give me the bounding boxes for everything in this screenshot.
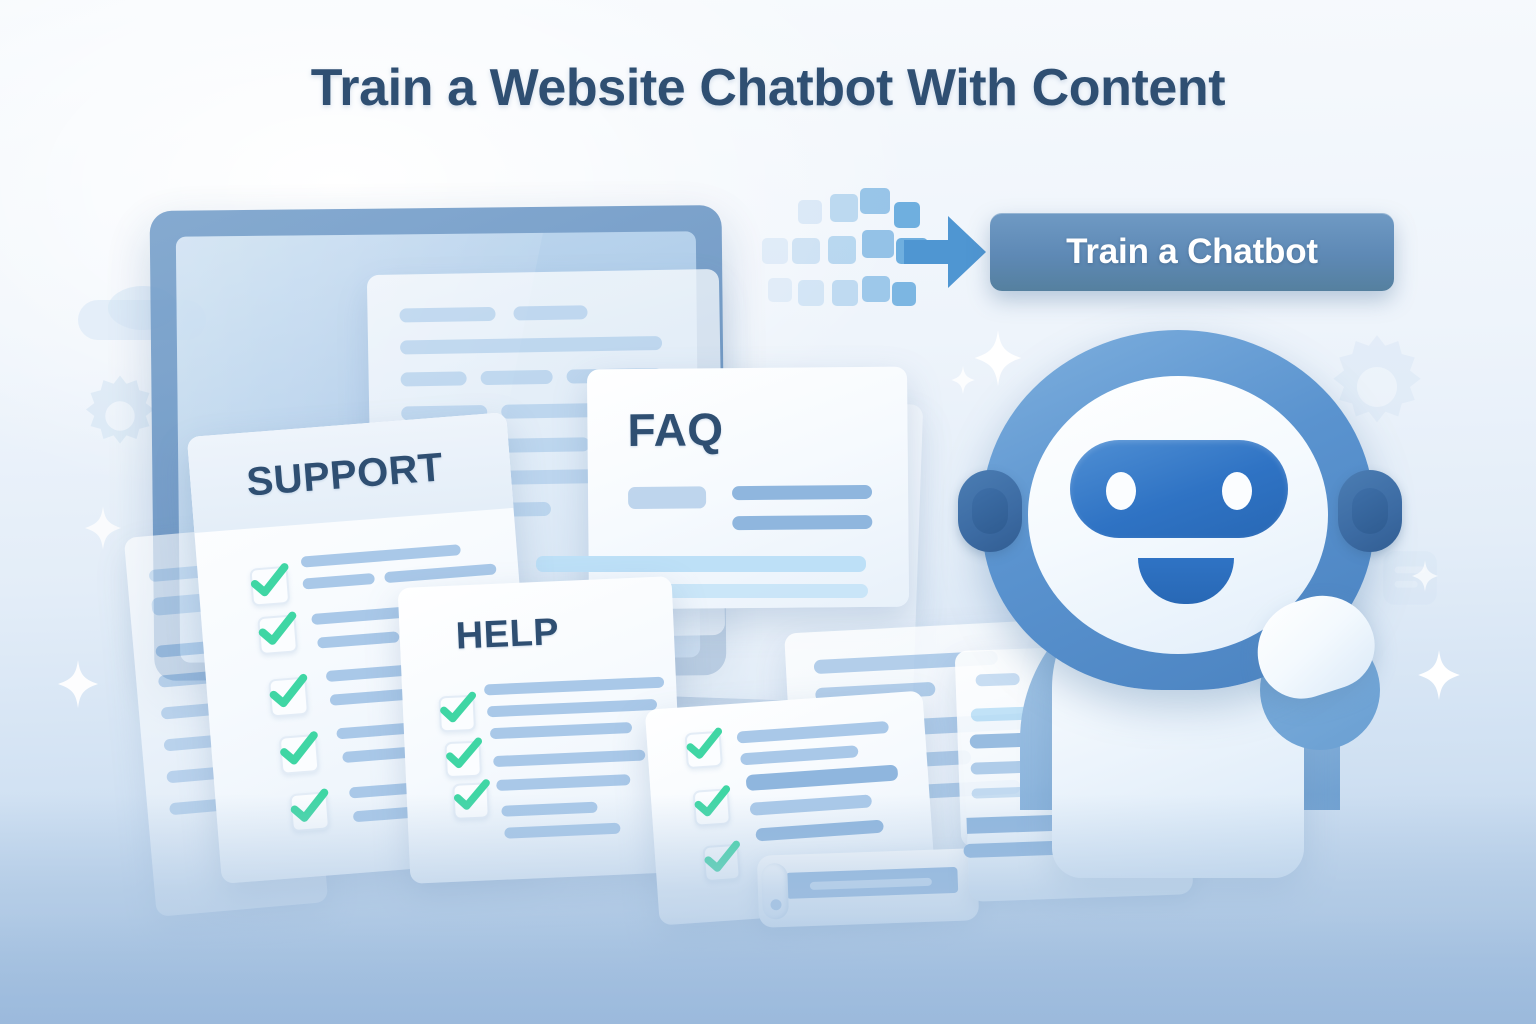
faq-card-title: FAQ — [627, 402, 724, 457]
sparkle-icon — [85, 506, 121, 550]
robot-headphone-right — [1338, 470, 1402, 552]
checkbox-checked[interactable] — [257, 614, 298, 655]
robot-visor — [1070, 440, 1288, 538]
checkbox-checked[interactable] — [268, 677, 309, 718]
robot-headphone-left — [958, 470, 1022, 552]
checkbox-checked[interactable] — [249, 566, 290, 607]
page-title: Train a Website Chatbot With Content — [0, 58, 1536, 118]
train-a-chatbot-label: Train a Chatbot — [1066, 232, 1318, 272]
surface-shadow — [0, 914, 1536, 1024]
checkbox-checked[interactable] — [444, 741, 482, 779]
pixel-dissolve-arrow — [762, 186, 982, 318]
robot-eye-right — [1222, 472, 1252, 510]
checkbox-checked[interactable] — [685, 731, 723, 769]
help-card-title: HELP — [455, 611, 560, 658]
illustration-canvas: Train a Website Chatbot With Content Tra… — [0, 0, 1536, 1024]
checkbox-checked[interactable] — [438, 695, 476, 733]
checkbox-checked[interactable] — [279, 734, 320, 775]
sparkle-icon — [58, 660, 98, 708]
robot-eye-left — [1106, 472, 1136, 510]
train-a-chatbot-button[interactable]: Train a Chatbot — [990, 213, 1394, 291]
sparkle-icon — [1418, 650, 1460, 700]
